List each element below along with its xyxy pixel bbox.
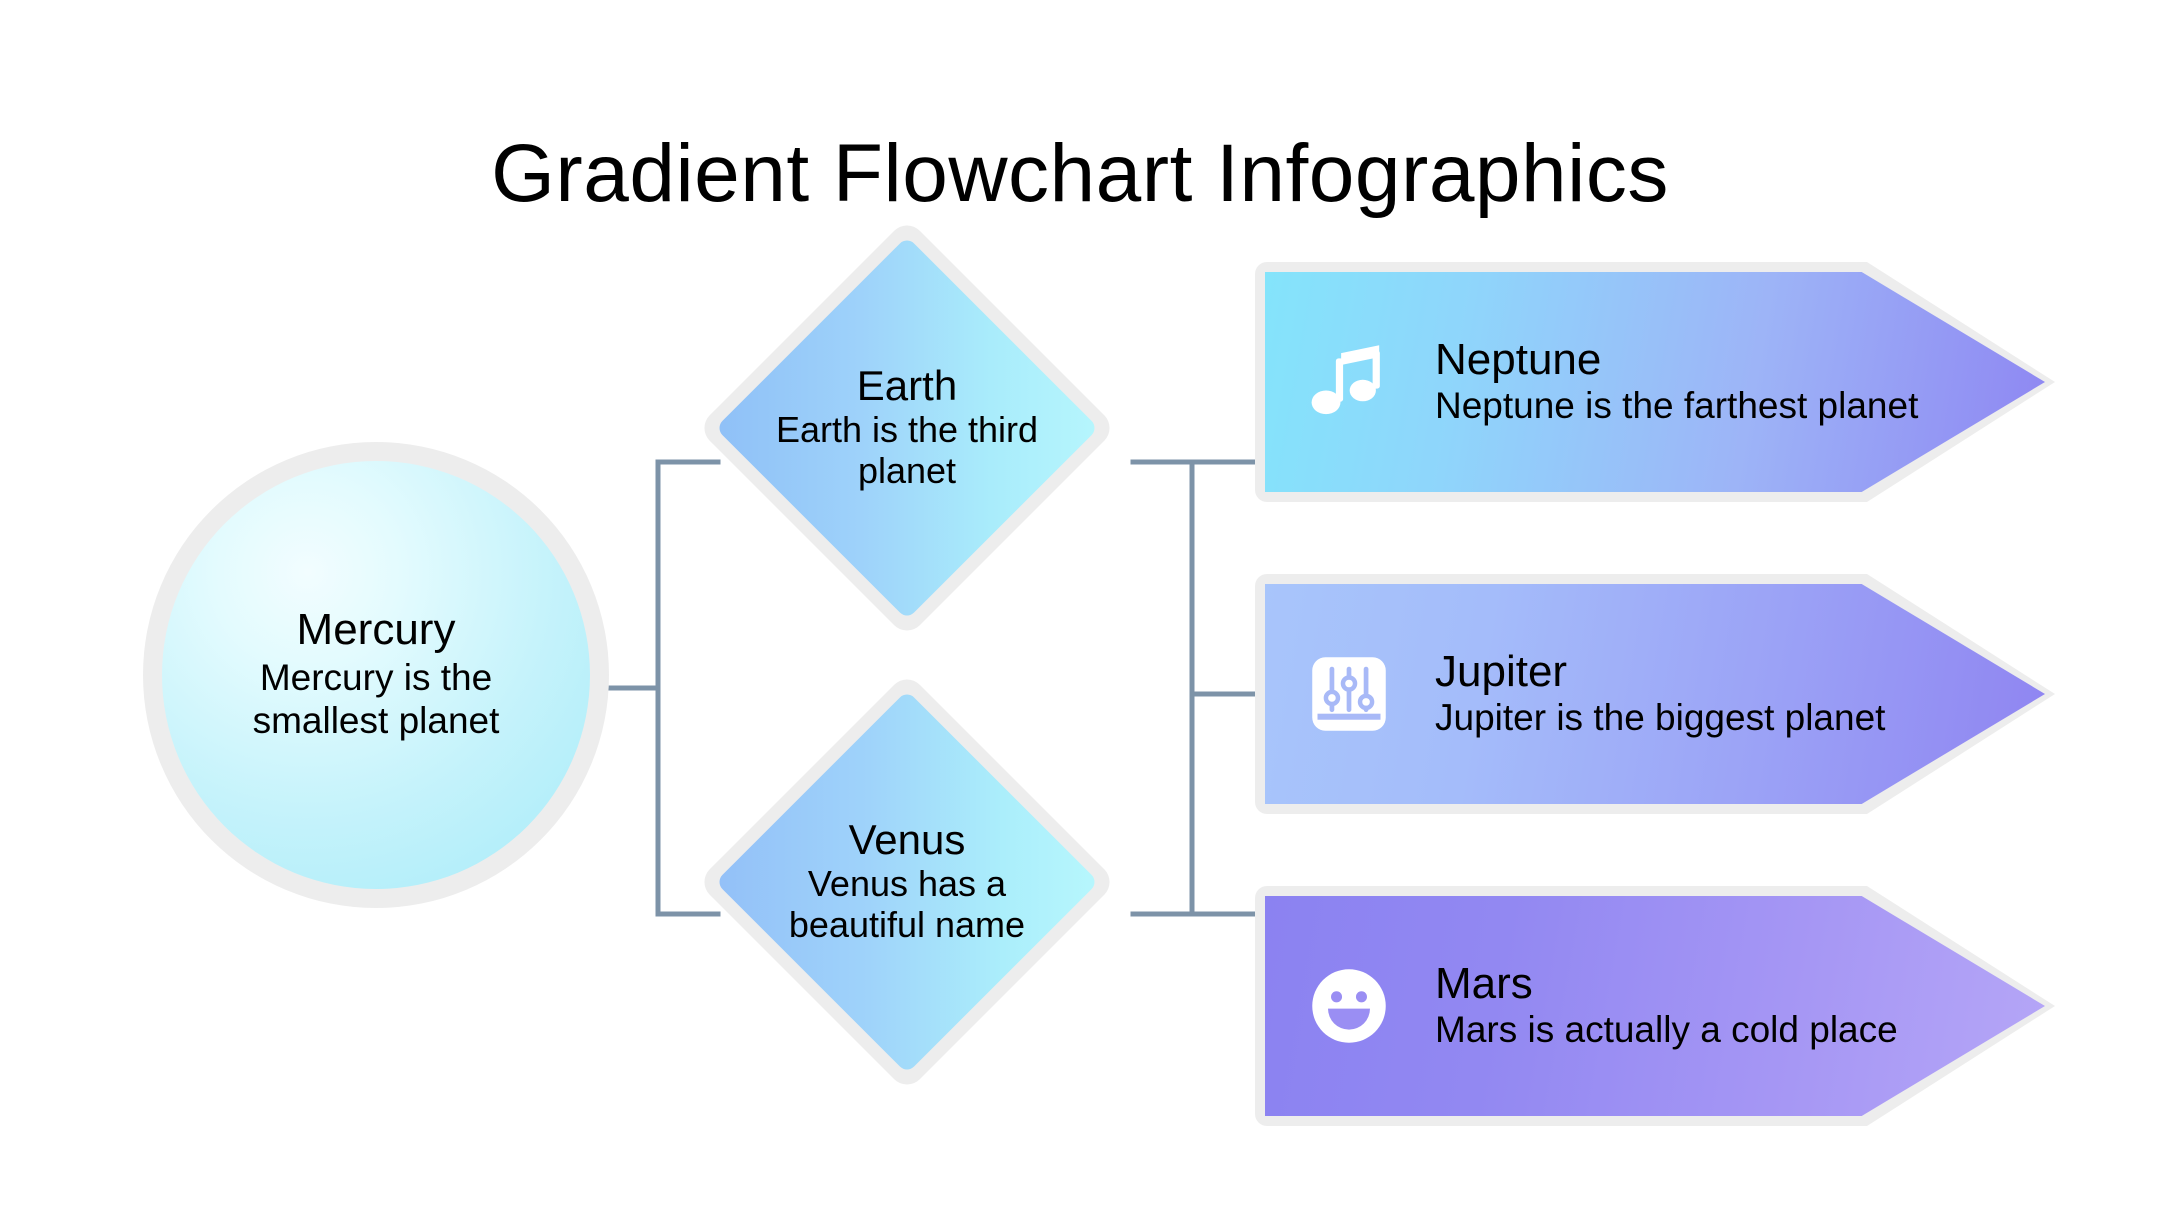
node-neptune-text: Neptune Neptune is the farthest planet (1435, 337, 1918, 427)
node-neptune-content: Neptune Neptune is the farthest planet (1255, 262, 2055, 502)
equalizer-sliders-icon (1307, 652, 1391, 736)
node-earth[interactable]: Earth Earth is the third planet (697, 218, 1117, 638)
infographic-canvas: Gradient Flowchart Infographics (0, 0, 2160, 1215)
node-earth-description: Earth is the third planet (752, 409, 1062, 493)
node-mercury-description: Mercury is the smallest planet (221, 656, 531, 743)
smiley-face-icon (1307, 964, 1391, 1048)
node-mars-text: Mars Mars is actually a cold place (1435, 961, 1898, 1051)
node-venus-description: Venus has a beautiful name (752, 863, 1062, 947)
node-jupiter-content: Jupiter Jupiter is the biggest planet (1255, 574, 2055, 814)
node-mercury-title: Mercury (297, 607, 456, 654)
node-jupiter-text: Jupiter Jupiter is the biggest planet (1435, 649, 1885, 739)
node-venus[interactable]: Venus Venus has a beautiful name (697, 672, 1117, 1092)
node-mars-title: Mars (1435, 961, 1898, 1007)
node-venus-title: Venus (752, 818, 1062, 863)
node-neptune-title: Neptune (1435, 337, 1918, 383)
music-note-icon (1307, 340, 1391, 424)
node-venus-text: Venus Venus has a beautiful name (752, 818, 1062, 946)
node-mercury[interactable]: Mercury Mercury is the smallest planet (143, 442, 609, 908)
node-earth-title: Earth (752, 364, 1062, 409)
page-title: Gradient Flowchart Infographics (0, 127, 2160, 221)
node-jupiter-title: Jupiter (1435, 649, 1885, 695)
node-mars[interactable]: Mars Mars is actually a cold place (1255, 886, 2055, 1126)
node-mercury-fill: Mercury Mercury is the smallest planet (162, 461, 590, 889)
node-mars-description: Mars is actually a cold place (1435, 1010, 1898, 1051)
node-earth-text: Earth Earth is the third planet (752, 364, 1062, 492)
node-neptune[interactable]: Neptune Neptune is the farthest planet (1255, 262, 2055, 502)
node-neptune-description: Neptune is the farthest planet (1435, 386, 1918, 427)
node-jupiter-description: Jupiter is the biggest planet (1435, 698, 1885, 739)
node-jupiter[interactable]: Jupiter Jupiter is the biggest planet (1255, 574, 2055, 814)
node-mars-content: Mars Mars is actually a cold place (1255, 886, 2055, 1126)
